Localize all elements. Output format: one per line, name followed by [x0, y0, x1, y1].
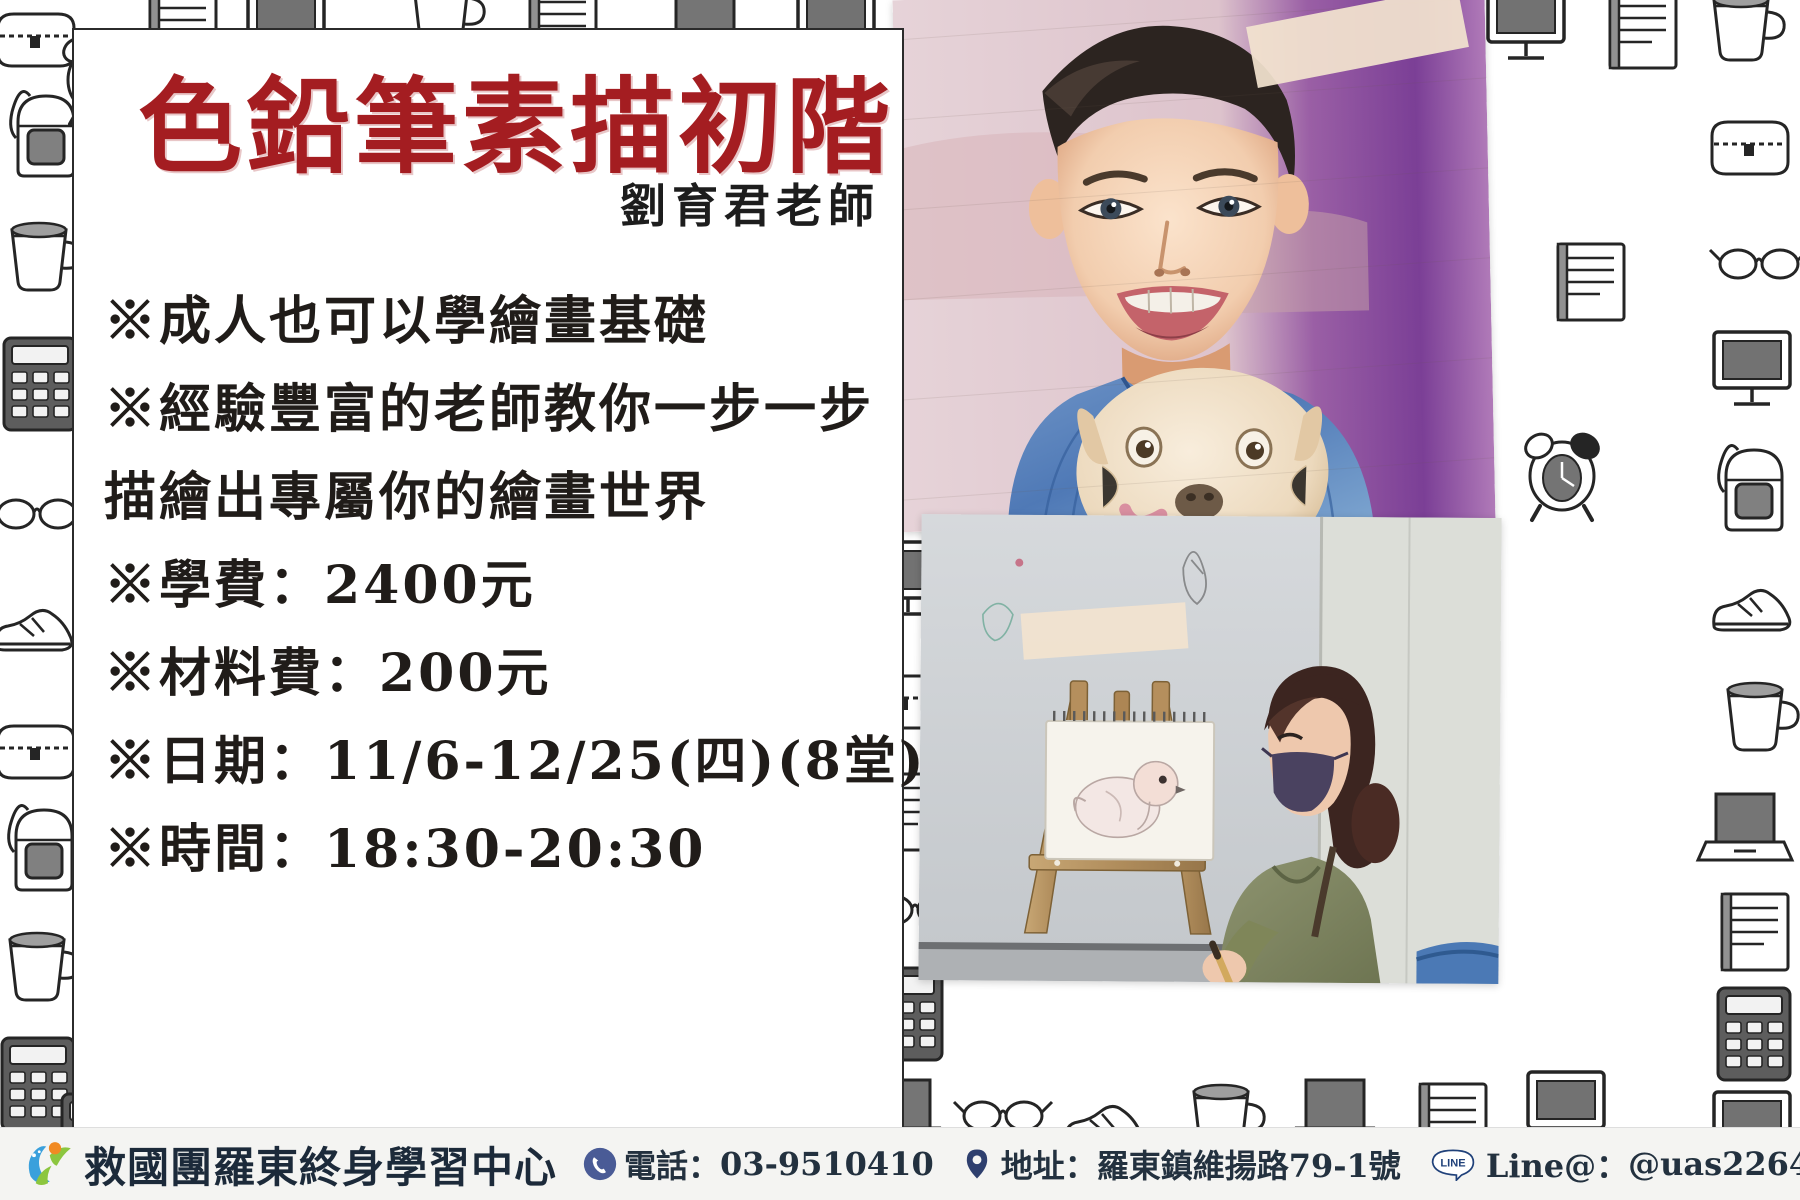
classroom-illustration [918, 514, 1501, 984]
organization-logo-icon [20, 1136, 76, 1192]
detail-line: ※材料費：200元 [104, 630, 884, 718]
phone-label: 電話： [624, 1141, 720, 1187]
phone-icon [583, 1147, 617, 1181]
detail-line: ※學費：2400元 [104, 542, 884, 630]
detail-line: ※經驗豐富的老師教你一步一步 [104, 366, 884, 454]
detail-line: ※成人也可以學繪畫基礎 [104, 278, 884, 366]
address-label: 地址： [1001, 1141, 1097, 1187]
address-group[interactable]: 地址： 羅東鎮維揚路79-1號 [960, 1141, 1401, 1187]
line-badge-icon: LINE [1427, 1147, 1479, 1181]
course-details-list: ※成人也可以學繪畫基礎 ※經驗豐富的老師教你一步一步 描繪出專屬你的繪畫世界 ※… [104, 278, 884, 894]
photo-colored-pencil-portrait [892, 0, 1495, 532]
phone-group[interactable]: 電話： 03-9510410 [583, 1141, 934, 1187]
address-value: 羅東鎮維揚路79-1號 [1097, 1141, 1401, 1187]
line-group[interactable]: LINE Line@： @uas2264t [1427, 1141, 1800, 1187]
line-value: @uas2264t [1628, 1145, 1800, 1183]
instructor-name: 劉育君老師 [620, 170, 880, 236]
detail-line: ※時間：18:30-20:30 [104, 806, 884, 894]
svg-text:LINE: LINE [1440, 1158, 1465, 1170]
footer-contact-bar: 救國團羅東終身學習中心 電話： 03-9510410 地址： 羅東鎮維揚路79-… [0, 1127, 1800, 1200]
line-label: Line@： [1486, 1141, 1628, 1187]
organization-name: 救國團羅東終身學習中心 [84, 1134, 557, 1195]
portrait-illustration [892, 0, 1495, 532]
photo-classroom-teacher [918, 514, 1501, 984]
location-pin-icon [960, 1147, 994, 1181]
detail-line: ※日期：11/6-12/25(四)(8堂) [104, 718, 884, 806]
detail-line: 描繪出專屬你的繪畫世界 [104, 454, 884, 542]
phone-value: 03-9510410 [720, 1145, 934, 1183]
poster-root: 色鉛筆素描初階 劉育君老師 ※成人也可以學繪畫基礎 ※經驗豐富的老師教你一步一步… [0, 0, 1800, 1200]
